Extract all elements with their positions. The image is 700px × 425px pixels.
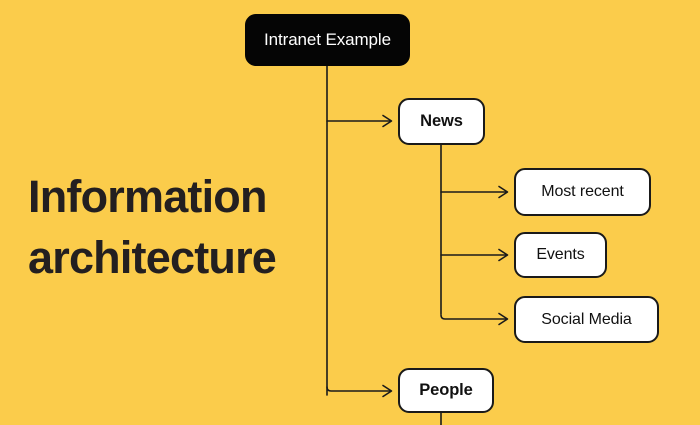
connector-root-people (327, 387, 391, 391)
node-events[interactable]: Events (514, 232, 607, 278)
page-title: Information architecture (28, 166, 328, 288)
arrowhead-events (499, 250, 508, 261)
node-most-recent[interactable]: Most recent (514, 168, 651, 216)
arrowhead-people (383, 386, 392, 397)
arrowhead-social-media (499, 314, 508, 325)
node-people[interactable]: People (398, 368, 494, 413)
arrowhead-most-recent (499, 187, 508, 198)
node-intranet-example[interactable]: Intranet Example (245, 14, 410, 66)
diagram-canvas: Information architecture Intranet Exampl… (0, 0, 700, 425)
arrowhead-news (383, 116, 392, 127)
connector-news-social-media (441, 315, 507, 319)
node-social-media[interactable]: Social Media (514, 296, 659, 343)
node-news[interactable]: News (398, 98, 485, 145)
